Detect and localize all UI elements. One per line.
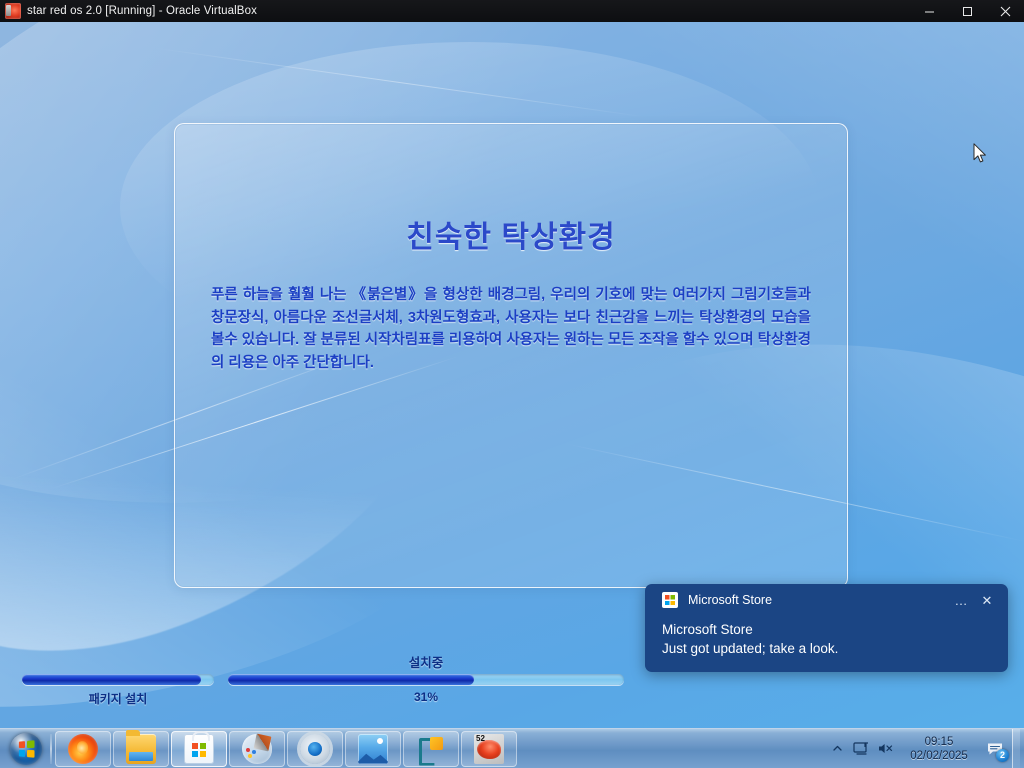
slide-body: 푸른 하늘을 훨훨 나는 《붉은별》을 형상한 배경그림, 우리의 기호에 맞는… xyxy=(211,284,811,374)
package-progress-fill xyxy=(22,674,201,685)
notification-badge: 2 xyxy=(996,749,1009,762)
slide-paragraph: 푸른 하늘을 훨훨 나는 《붉은별》을 형상한 배경그림, 우리의 기호에 맞는… xyxy=(211,284,811,374)
toast-more-options-button[interactable]: … xyxy=(948,588,974,612)
package-progress-caption: 패키지 설치 xyxy=(22,690,214,707)
overall-progress-percent: 31% xyxy=(228,690,624,704)
taskbar-item-firefox[interactable] xyxy=(55,731,111,767)
taskbar-item-store[interactable] xyxy=(171,731,227,767)
taskbar-item-explorer[interactable] xyxy=(113,731,169,767)
taskbar-item-virtualbox[interactable]: 52 xyxy=(461,731,517,767)
taskbar-item-paint[interactable] xyxy=(229,731,285,767)
close-button[interactable] xyxy=(986,0,1024,22)
taskbar: 52 xyxy=(0,728,1024,768)
toast-app-name: Microsoft Store xyxy=(688,593,948,607)
settings-gear-icon xyxy=(300,734,330,764)
window-title: star red os 2.0 [Running] - Oracle Virtu… xyxy=(27,5,257,17)
clock-date: 02/02/2025 xyxy=(903,749,975,763)
system-tray: 09:15 02/02/2025 2 xyxy=(825,729,1024,768)
virtualbox-icon: 52 xyxy=(474,734,504,764)
overall-progress-fill xyxy=(228,674,474,685)
toast-body: Microsoft Store Just got updated; take a… xyxy=(645,616,1008,658)
package-progress-group: 패키지 설치 xyxy=(22,674,214,707)
clock[interactable]: 09:15 02/02/2025 xyxy=(897,735,981,763)
installer-slide-panel: 친숙한 탁상환경 푸른 하늘을 훨훨 나는 《붉은별》을 형상한 배경그림, 우… xyxy=(174,123,848,588)
taskbar-divider xyxy=(50,734,52,764)
volume-muted-icon[interactable] xyxy=(873,734,897,764)
taskbar-item-vscode[interactable] xyxy=(403,731,459,767)
paint-icon xyxy=(242,734,272,764)
toast-message: Just got updated; take a look. xyxy=(662,639,991,658)
toast-title: Microsoft Store xyxy=(662,620,991,639)
overall-progress-bar xyxy=(228,674,624,685)
chevron-up-icon[interactable] xyxy=(825,734,849,764)
show-desktop-button[interactable] xyxy=(1012,729,1020,768)
notification-toast[interactable]: Microsoft Store … ✕ Microsoft Store Just… xyxy=(645,584,1008,672)
network-icon[interactable] xyxy=(849,734,873,764)
code-editor-icon xyxy=(416,734,446,764)
microsoft-store-icon xyxy=(662,592,678,608)
minimize-button[interactable] xyxy=(910,0,948,22)
microsoft-store-icon xyxy=(184,734,214,764)
virtualbox-title-bar: star red os 2.0 [Running] - Oracle Virtu… xyxy=(0,0,1024,22)
start-button[interactable] xyxy=(4,731,48,767)
taskbar-item-settings[interactable] xyxy=(287,731,343,767)
virtualbox-icon xyxy=(5,3,21,19)
overall-progress-group: 31% xyxy=(228,674,624,704)
package-progress-bar xyxy=(22,674,214,685)
install-status-label: 설치중 xyxy=(228,652,624,671)
photos-icon xyxy=(358,734,388,764)
wallpaper-hairline xyxy=(152,47,647,118)
file-explorer-icon xyxy=(126,734,156,764)
firefox-icon xyxy=(68,734,98,764)
maximize-button[interactable] xyxy=(948,0,986,22)
taskbar-item-badge: 52 xyxy=(476,734,485,743)
windows-logo-icon xyxy=(10,733,42,765)
slide-title: 친숙한 탁상환경 xyxy=(175,212,847,256)
window-controls xyxy=(910,0,1024,22)
clock-time: 09:15 xyxy=(903,735,975,749)
taskbar-item-photos[interactable] xyxy=(345,731,401,767)
toast-header: Microsoft Store … ✕ xyxy=(645,584,1008,616)
screen-root: star red os 2.0 [Running] - Oracle Virtu… xyxy=(0,0,1024,768)
action-center-button[interactable]: 2 xyxy=(981,734,1009,764)
toast-close-button[interactable]: ✕ xyxy=(974,588,1000,612)
